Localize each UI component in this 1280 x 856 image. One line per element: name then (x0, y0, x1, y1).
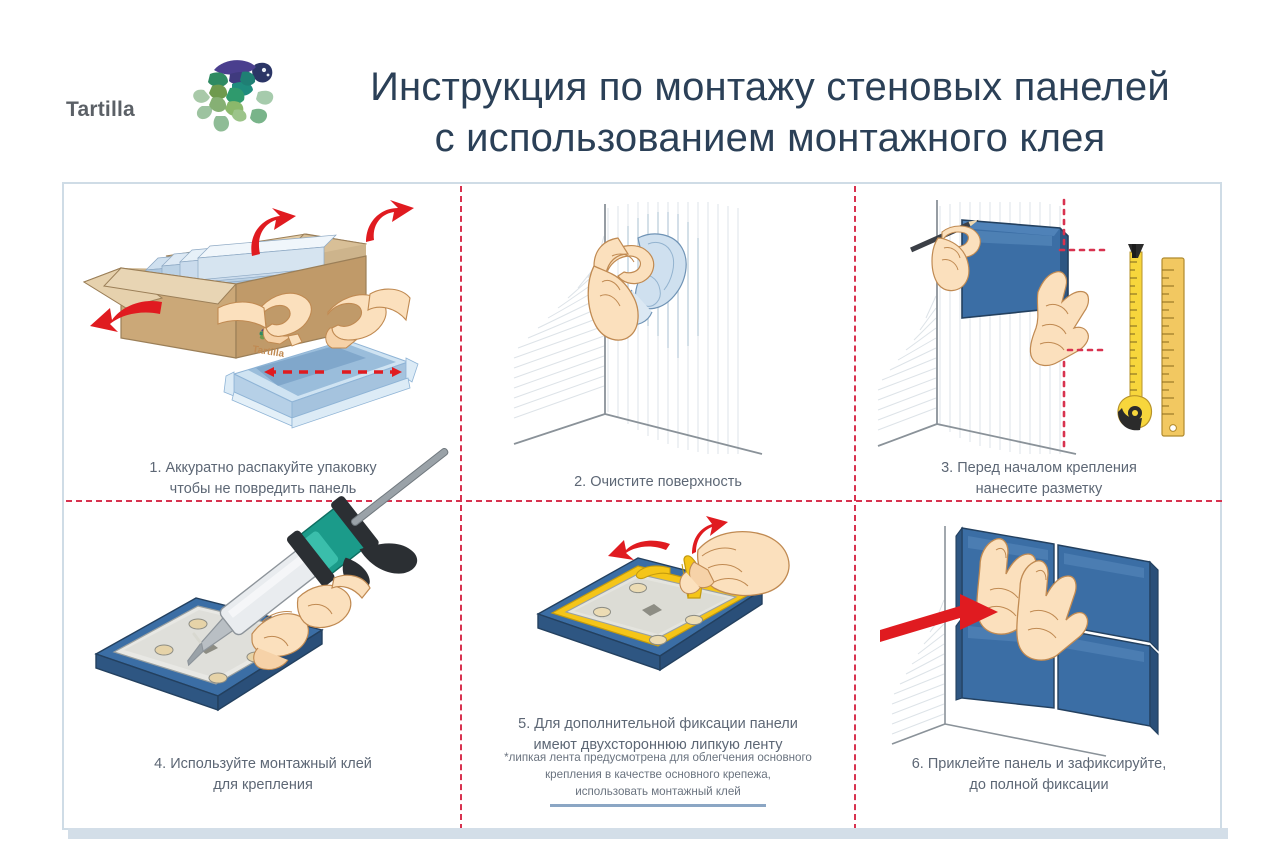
page-title-line-2: с использованием монтажного клея (290, 113, 1250, 164)
instruction-grid-frame: Tartilla (62, 182, 1222, 830)
step-caption-1: 1. Аккуратно распакуйте упаковку чтобы н… (66, 458, 460, 499)
step-cell-5: 5. Для дополнительной фиксации панели им… (462, 502, 854, 828)
frame-bottom-bar (68, 828, 1228, 839)
page-title-line-1: Инструкция по монтажу стеновых панелей (290, 62, 1250, 113)
brand-name: Tartilla (66, 98, 135, 122)
step-caption-4: 4. Используйте монтажный клей для крепле… (66, 754, 460, 795)
step-footnote-5-line-3: использовать монтажный клей (575, 785, 741, 798)
ruler-icon (1162, 258, 1184, 436)
tape-measure-icon (1118, 244, 1152, 430)
step-caption-1-line-2: чтобы не повредить панель (170, 481, 357, 497)
illustration-apply-glue (66, 502, 460, 752)
illustration-peel-tape (462, 502, 854, 712)
illustration-unpack-box: Tartilla (66, 186, 460, 436)
step-cell-6: 6. Приклейте панель и зафиксируйте, до п… (856, 502, 1222, 828)
page-header: Tartilla Инструкция п (0, 0, 1280, 180)
step-cell-1: Tartilla (66, 186, 460, 500)
step-caption-4-line-1: 4. Используйте монтажный клей (154, 756, 372, 772)
step-cell-2: 2. Очистите поверхность (462, 186, 854, 500)
illustration-clean-surface (462, 186, 854, 456)
step-caption-5: 5. Для дополнительной фиксации панели им… (462, 714, 854, 755)
step-cell-4: 4. Используйте монтажный клей для крепле… (66, 502, 460, 828)
step-caption-6-line-1: 6. Приклейте панель и зафиксируйте, (912, 756, 1167, 772)
step-footnote-5-line-2: крепления в качестве основного крепежа, (545, 768, 771, 781)
illustration-mark-layout (856, 186, 1222, 456)
page-title: Инструкция по монтажу стеновых панелей с… (290, 62, 1250, 164)
step-caption-1-line-1: 1. Аккуратно распакуйте упаковку (149, 460, 376, 476)
footnote-underline (550, 804, 766, 807)
illustration-press-panels (856, 502, 1222, 762)
step-caption-2-line-1: 2. Очистите поверхность (574, 474, 742, 490)
step-caption-3-line-1: 3. Перед началом крепления (941, 460, 1137, 476)
step-footnote-5-line-1: *липкая лента предусмотрена для облегчен… (504, 751, 812, 764)
turtle-logo-icon (190, 48, 282, 140)
step-caption-6-line-2: до полной фиксации (969, 777, 1108, 793)
step-footnote-5: *липкая лента предусмотрена для облегчен… (462, 750, 854, 800)
step-cell-3: 3. Перед началом крепления нанесите разм… (856, 186, 1222, 500)
step-caption-5-line-1: 5. Для дополнительной фиксации панели (518, 716, 798, 732)
step-caption-4-line-2: для крепления (213, 777, 313, 793)
step-caption-3: 3. Перед началом крепления нанесите разм… (856, 458, 1222, 499)
step-caption-6: 6. Приклейте панель и зафиксируйте, до п… (856, 754, 1222, 795)
step-caption-2: 2. Очистите поверхность (462, 472, 854, 493)
step-caption-3-line-2: нанесите разметку (976, 481, 1103, 497)
